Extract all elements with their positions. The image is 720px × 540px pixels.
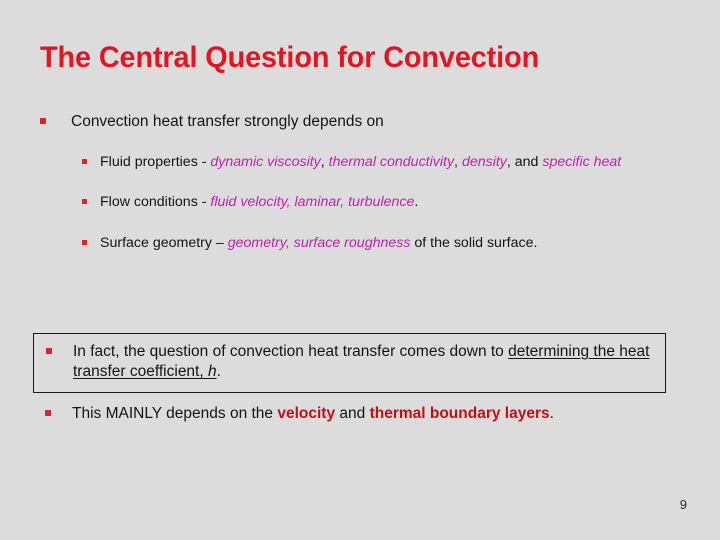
closing-bullet-area: This MAINLY depends on the velocity and … — [0, 404, 720, 424]
closing-lead: This MAINLY depends on the — [72, 405, 277, 422]
square-bullet-icon — [82, 240, 87, 245]
sub-bullet-tail: . — [414, 194, 418, 210]
separator: , — [454, 154, 462, 170]
square-bullet-icon — [82, 159, 87, 164]
emphasis-geometry-terms: geometry, surface roughness — [228, 235, 411, 251]
square-bullet-icon — [46, 348, 52, 354]
sub-bullet-text: Fluid properties - dynamic viscosity, th… — [87, 154, 621, 172]
slide-body: Convection heat transfer strongly depend… — [0, 112, 720, 252]
sub-bullet-flow-conditions: Flow conditions - fluid velocity, lamina… — [0, 194, 720, 212]
sub-bullet-text: Surface geometry – geometry, surface rou… — [87, 235, 537, 253]
square-bullet-icon — [45, 410, 51, 416]
bullet-text: Convection heat transfer strongly depend… — [46, 112, 384, 132]
bullet-item-this-mainly: This MAINLY depends on the velocity and … — [0, 404, 720, 424]
emphasis-flow-terms: fluid velocity, laminar, turbulence — [210, 194, 414, 210]
emphasis-thermal-boundary-layers: thermal boundary layers — [370, 405, 550, 422]
boxed-statement-text: In fact, the question of convection heat… — [52, 342, 665, 382]
page-number: 9 — [680, 497, 687, 512]
sub-bullet-lead: Flow conditions - — [100, 194, 210, 210]
closing-tail: . — [550, 405, 554, 422]
page-title: The Central Question for Convection — [40, 41, 664, 74]
square-bullet-icon — [40, 118, 46, 124]
sub-bullet-text: Flow conditions - fluid velocity, lamina… — [87, 194, 418, 212]
highlight-box: In fact, the question of convection heat… — [33, 333, 666, 393]
boxed-tail: . — [217, 363, 221, 380]
boxed-lead: In fact, the question of convection heat… — [73, 343, 508, 360]
separator: , and — [507, 154, 543, 170]
square-bullet-icon — [82, 199, 87, 204]
separator: , — [321, 154, 329, 170]
emphasis-velocity: velocity — [277, 405, 335, 422]
slide: The Central Question for Convection Conv… — [0, 0, 720, 540]
emphasis-thermal-conductivity: thermal conductivity — [329, 154, 454, 170]
closing-bullet-text: This MAINLY depends on the velocity and … — [51, 404, 554, 424]
bullet-item-in-fact: In fact, the question of convection heat… — [34, 334, 665, 382]
sub-bullet-lead: Surface geometry – — [100, 235, 228, 251]
bullet-item-convection-depends: Convection heat transfer strongly depend… — [0, 112, 720, 132]
sub-bullet-surface-geometry: Surface geometry – geometry, surface rou… — [0, 235, 720, 253]
boxed-underlined-symbol-h: h — [208, 363, 217, 380]
emphasis-dynamic-viscosity: dynamic viscosity — [210, 154, 320, 170]
closing-mid: and — [335, 405, 369, 422]
sub-bullet-fluid-properties: Fluid properties - dynamic viscosity, th… — [0, 154, 720, 172]
sub-bullet-tail: of the solid surface. — [410, 235, 537, 251]
sub-bullet-lead: Fluid properties - — [100, 154, 210, 170]
sub-bullet-list: Fluid properties - dynamic viscosity, th… — [0, 154, 720, 253]
emphasis-specific-heat: specific heat — [542, 154, 621, 170]
emphasis-density: density — [462, 154, 507, 170]
